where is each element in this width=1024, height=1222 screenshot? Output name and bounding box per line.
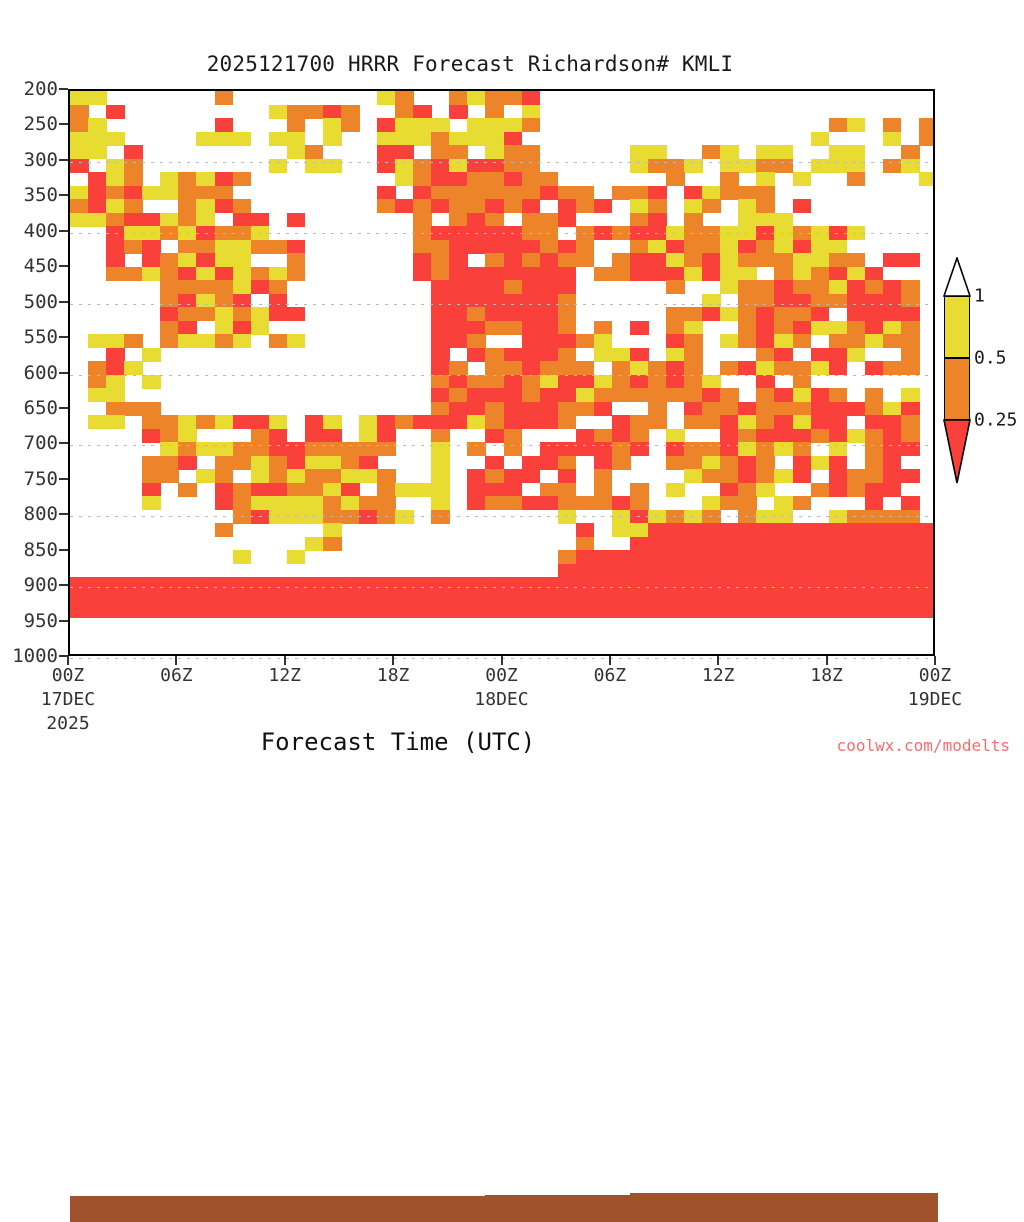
- heatmap-cell: [449, 402, 468, 416]
- heatmap-cell: [540, 577, 559, 591]
- heatmap-cell: [847, 226, 866, 240]
- heatmap-cell: [287, 145, 306, 159]
- heatmap-cell: [431, 510, 450, 524]
- heatmap-cell: [901, 145, 920, 159]
- heatmap-cell: [287, 510, 306, 524]
- terrain-block: [251, 1196, 270, 1222]
- heatmap-cell: [467, 159, 486, 173]
- heatmap-cell: [594, 429, 613, 443]
- heatmap-cell: [558, 483, 577, 497]
- heatmap-cell: [847, 591, 866, 605]
- heatmap-cell: [720, 267, 739, 281]
- heatmap-cell: [395, 415, 414, 429]
- heatmap-cell: [196, 186, 215, 200]
- heatmap-cell: [233, 577, 252, 591]
- heatmap-cell: [829, 442, 848, 456]
- heatmap-cell: [648, 145, 667, 159]
- heatmap-cell: [124, 199, 143, 213]
- surface-line: [522, 1188, 541, 1195]
- heatmap-cell: [702, 415, 721, 429]
- surface-line: [305, 1189, 324, 1196]
- heatmap-cell: [847, 550, 866, 564]
- heatmap-cell: [233, 172, 252, 186]
- heatmap-cell: [793, 402, 812, 416]
- heatmap-cell: [106, 159, 125, 173]
- y-tick-mark: [59, 407, 68, 409]
- heatmap-cell: [702, 604, 721, 618]
- heatmap-cell: [540, 402, 559, 416]
- terrain-block: [70, 1196, 89, 1222]
- heatmap-cell: [774, 469, 793, 483]
- heatmap-cell: [233, 321, 252, 335]
- heatmap-cell: [847, 469, 866, 483]
- heatmap-cell: [847, 510, 866, 524]
- heatmap-cell: [233, 226, 252, 240]
- heatmap-cell: [485, 388, 504, 402]
- heatmap-cell: [160, 415, 179, 429]
- heatmap-cell: [124, 172, 143, 186]
- heatmap-cell: [630, 564, 649, 578]
- heatmap-cell: [70, 186, 89, 200]
- heatmap-cell: [106, 240, 125, 254]
- heatmap-cell: [160, 226, 179, 240]
- heatmap-cell: [467, 604, 486, 618]
- heatmap-cell: [847, 145, 866, 159]
- y-tick-label: 200: [24, 78, 58, 100]
- y-tick-mark: [59, 549, 68, 551]
- heatmap-cell: [467, 172, 486, 186]
- heatmap-cell: [883, 483, 902, 497]
- heatmap-cell: [522, 604, 541, 618]
- heatmap-cell: [196, 591, 215, 605]
- heatmap-cell: [738, 240, 757, 254]
- heatmap-cell: [919, 172, 933, 186]
- heatmap-cell: [811, 591, 830, 605]
- heatmap-cell: [684, 213, 703, 227]
- heatmap-cell: [377, 118, 396, 132]
- heatmap-cell: [793, 172, 812, 186]
- heatmap-cell: [720, 523, 739, 537]
- heatmap-cell: [449, 388, 468, 402]
- heatmap-cell: [702, 402, 721, 416]
- heatmap-cell: [630, 361, 649, 375]
- heatmap-cell: [323, 456, 342, 470]
- heatmap-cell: [413, 226, 432, 240]
- heatmap-cell: [504, 577, 523, 591]
- heatmap-cell: [124, 334, 143, 348]
- heatmap-cell: [467, 118, 486, 132]
- heatmap-cell: [178, 226, 197, 240]
- heatmap-cell: [774, 604, 793, 618]
- heatmap-cell: [684, 159, 703, 173]
- surface-line: [847, 1186, 866, 1193]
- heatmap-cell: [756, 294, 775, 308]
- surface-line: [883, 1186, 902, 1193]
- heatmap-cell: [756, 240, 775, 254]
- heatmap-cell: [666, 456, 685, 470]
- heatmap-cell: [341, 442, 360, 456]
- heatmap-cell: [178, 577, 197, 591]
- heatmap-cell: [684, 240, 703, 254]
- heatmap-cell: [829, 591, 848, 605]
- heatmap-cell: [576, 523, 595, 537]
- heatmap-cell: [648, 159, 667, 173]
- heatmap-cell: [648, 523, 667, 537]
- heatmap-cell: [106, 591, 125, 605]
- heatmap-cell: [88, 604, 107, 618]
- heatmap-cell: [847, 267, 866, 281]
- heatmap-cell: [467, 132, 486, 146]
- heatmap-cell: [738, 307, 757, 321]
- heatmap-cell: [774, 240, 793, 254]
- heatmap-cell: [540, 456, 559, 470]
- heatmap-cell: [413, 172, 432, 186]
- heatmap-cell: [558, 496, 577, 510]
- y-tick-mark: [59, 194, 68, 196]
- heatmap-cell: [178, 415, 197, 429]
- heatmap-cell: [720, 280, 739, 294]
- heatmap-cell: [323, 159, 342, 173]
- heatmap-cell: [738, 267, 757, 281]
- heatmap-cell: [901, 591, 920, 605]
- heatmap-cell: [865, 591, 884, 605]
- x-tick-label: 06Z: [594, 664, 627, 688]
- surface-line: [178, 1189, 197, 1196]
- heatmap-cell: [612, 456, 631, 470]
- heatmap-cell: [305, 591, 324, 605]
- heatmap-cell: [829, 523, 848, 537]
- heatmap-cell: [738, 591, 757, 605]
- heatmap-cell: [124, 159, 143, 173]
- heatmap-cell: [196, 334, 215, 348]
- heatmap-cell: [196, 267, 215, 281]
- heatmap-cell: [106, 105, 125, 119]
- heatmap-cell: [485, 496, 504, 510]
- heatmap-cell: [377, 604, 396, 618]
- heatmap-cell: [684, 442, 703, 456]
- heatmap-cell: [829, 577, 848, 591]
- heatmap-cell: [540, 415, 559, 429]
- y-axis: 2002503003504004505005506006507007508008…: [0, 89, 68, 656]
- heatmap-cell: [847, 348, 866, 362]
- heatmap-cell: [377, 91, 396, 105]
- heatmap-cell: [196, 280, 215, 294]
- heatmap-cell: [774, 564, 793, 578]
- heatmap-cell: [305, 105, 324, 119]
- heatmap-cell: [684, 267, 703, 281]
- terrain-block: [883, 1193, 902, 1222]
- colorbar: 10.50.25: [944, 296, 970, 484]
- heatmap-cell: [883, 132, 902, 146]
- heatmap-cell: [756, 577, 775, 591]
- heatmap-cell: [504, 321, 523, 335]
- heatmap-cell: [341, 604, 360, 618]
- terrain-block: [196, 1196, 215, 1222]
- heatmap-cell: [251, 510, 270, 524]
- heatmap-cell: [702, 307, 721, 321]
- heatmap-cell: [847, 604, 866, 618]
- heatmap-cell: [70, 91, 89, 105]
- x-tick-label: 06Z: [160, 664, 193, 688]
- heatmap-cell: [558, 550, 577, 564]
- heatmap-cell: [106, 577, 125, 591]
- heatmap-cell: [558, 240, 577, 254]
- heatmap-cell: [847, 307, 866, 321]
- heatmap-cell: [287, 442, 306, 456]
- heatmap-cell: [485, 213, 504, 227]
- heatmap-cell: [576, 564, 595, 578]
- heatmap-cell: [395, 118, 414, 132]
- heatmap-cell: [576, 388, 595, 402]
- heatmap-cell: [756, 226, 775, 240]
- heatmap-cell: [233, 334, 252, 348]
- heatmap-cell: [558, 361, 577, 375]
- surface-line: [377, 1189, 396, 1196]
- heatmap-cell: [504, 118, 523, 132]
- surface-line: [829, 1186, 848, 1193]
- heatmap-cell: [233, 307, 252, 321]
- heatmap-cell: [738, 604, 757, 618]
- heatmap-cell: [269, 510, 288, 524]
- heatmap-cell: [648, 199, 667, 213]
- y-tick-label: 550: [24, 326, 58, 348]
- heatmap-cell: [919, 591, 933, 605]
- heatmap-cell: [323, 537, 342, 551]
- heatmap-cell: [377, 496, 396, 510]
- heatmap-cell: [467, 267, 486, 281]
- surface-line: [738, 1186, 757, 1193]
- heatmap-cell: [449, 591, 468, 605]
- heatmap-cell: [756, 402, 775, 416]
- heatmap-cell: [467, 402, 486, 416]
- terrain-block: [233, 1196, 252, 1222]
- heatmap-cell: [323, 429, 342, 443]
- heatmap-cell: [395, 159, 414, 173]
- heatmap-cell: [449, 267, 468, 281]
- heatmap-cell: [106, 267, 125, 281]
- heatmap-cell: [269, 456, 288, 470]
- heatmap-cell: [648, 577, 667, 591]
- heatmap-cell: [485, 294, 504, 308]
- heatmap-cell: [883, 564, 902, 578]
- heatmap-cell: [142, 456, 161, 470]
- heatmap-cell: [901, 564, 920, 578]
- heatmap-cell: [738, 294, 757, 308]
- heatmap-cell: [774, 388, 793, 402]
- heatmap-cell: [684, 253, 703, 267]
- surface-line: [594, 1188, 613, 1195]
- heatmap-cell: [413, 577, 432, 591]
- heatmap-cell: [413, 213, 432, 227]
- heatmap-cell: [648, 550, 667, 564]
- heatmap-cell: [522, 348, 541, 362]
- heatmap-cell: [305, 159, 324, 173]
- heatmap-cell: [558, 280, 577, 294]
- heatmap-cell: [269, 294, 288, 308]
- heatmap-cell: [178, 456, 197, 470]
- heatmap-cell: [431, 456, 450, 470]
- heatmap-cell: [883, 577, 902, 591]
- heatmap-cell: [883, 321, 902, 335]
- heatmap-cell: [756, 429, 775, 443]
- heatmap-cell: [88, 334, 107, 348]
- heatmap-cell: [793, 550, 812, 564]
- heatmap-cell: [215, 523, 234, 537]
- colorbar-label: 1: [974, 286, 985, 307]
- heatmap-cell: [287, 334, 306, 348]
- heatmap-cell: [847, 483, 866, 497]
- heatmap-cell: [485, 361, 504, 375]
- terrain-block: [756, 1193, 775, 1222]
- heatmap-cell: [865, 537, 884, 551]
- heatmap-cell: [702, 510, 721, 524]
- heatmap-cell: [829, 361, 848, 375]
- heatmap-cell: [829, 415, 848, 429]
- heatmap-cell: [431, 159, 450, 173]
- heatmap-cell: [883, 402, 902, 416]
- heatmap-cell: [287, 240, 306, 254]
- heatmap-cell: [684, 510, 703, 524]
- terrain-block: [106, 1196, 125, 1222]
- heatmap-cell: [359, 577, 378, 591]
- heatmap-cell: [504, 253, 523, 267]
- heatmap-cell: [793, 591, 812, 605]
- heatmap-cell: [431, 226, 450, 240]
- heatmap-cell: [70, 577, 89, 591]
- heatmap-cell: [341, 118, 360, 132]
- heatmap-cell: [522, 469, 541, 483]
- heatmap-cell: [377, 132, 396, 146]
- heatmap-cell: [142, 469, 161, 483]
- heatmap-cell: [612, 523, 631, 537]
- heatmap-cell: [865, 564, 884, 578]
- heatmap-cell: [901, 361, 920, 375]
- heatmap-cell: [540, 213, 559, 227]
- heatmap-cell: [178, 280, 197, 294]
- surface-line: [774, 1186, 793, 1193]
- heatmap-cell: [630, 199, 649, 213]
- heatmap-cell: [106, 375, 125, 389]
- heatmap-cell: [702, 469, 721, 483]
- heatmap-cell: [774, 267, 793, 281]
- heatmap-cell: [504, 429, 523, 443]
- heatmap-cell: [666, 483, 685, 497]
- y-tick-label: 950: [24, 610, 58, 632]
- heatmap-cell: [865, 321, 884, 335]
- heatmap-cell: [793, 253, 812, 267]
- heatmap-cell: [702, 591, 721, 605]
- heatmap-cell: [774, 294, 793, 308]
- heatmap-cell: [160, 442, 179, 456]
- heatmap-cell: [901, 496, 920, 510]
- heatmap-cell: [666, 159, 685, 173]
- heatmap-cell: [467, 307, 486, 321]
- heatmap-cell: [702, 253, 721, 267]
- heatmap-cell: [738, 226, 757, 240]
- heatmap-cell: [883, 307, 902, 321]
- heatmap-cell: [684, 226, 703, 240]
- heatmap-cell: [702, 186, 721, 200]
- heatmap-cell: [522, 186, 541, 200]
- heatmap-cell: [196, 307, 215, 321]
- heatmap-cell: [630, 604, 649, 618]
- heatmap-cell: [720, 577, 739, 591]
- heatmap-cell: [106, 132, 125, 146]
- heatmap-cell: [522, 388, 541, 402]
- heatmap-cell: [395, 604, 414, 618]
- heatmap-cell: [215, 469, 234, 483]
- heatmap-cell: [196, 240, 215, 254]
- heatmap-cell: [612, 442, 631, 456]
- heatmap-cell: [793, 577, 812, 591]
- heatmap-cell: [811, 564, 830, 578]
- heatmap-cell: [467, 469, 486, 483]
- heatmap-cell: [865, 280, 884, 294]
- heatmap-cell: [883, 361, 902, 375]
- heatmap-cell: [738, 280, 757, 294]
- heatmap-cell: [774, 537, 793, 551]
- heatmap-cell: [847, 577, 866, 591]
- heatmap-cell: [612, 267, 631, 281]
- heatmap-cell: [431, 186, 450, 200]
- heatmap-cell: [630, 550, 649, 564]
- heatmap-cell: [919, 577, 933, 591]
- heatmap-cell: [720, 429, 739, 443]
- heatmap-cell: [793, 442, 812, 456]
- terrain-block: [467, 1196, 486, 1222]
- heatmap-cell: [431, 577, 450, 591]
- heatmap-cell: [323, 496, 342, 510]
- heatmap-cell: [648, 604, 667, 618]
- heatmap-cell: [919, 118, 933, 132]
- plot-area: [68, 89, 935, 656]
- heatmap-cell: [738, 213, 757, 227]
- heatmap-cell: [720, 186, 739, 200]
- x-tick-line: 12Z: [702, 664, 735, 688]
- heatmap-cell: [233, 442, 252, 456]
- heatmap-cell: [215, 456, 234, 470]
- heatmap-cell: [449, 577, 468, 591]
- heatmap-cell: [630, 240, 649, 254]
- heatmap-cell: [558, 442, 577, 456]
- heatmap-cell: [522, 577, 541, 591]
- heatmap-cell: [540, 375, 559, 389]
- x-tick-label: 00Z17DEC2025: [41, 664, 95, 736]
- heatmap-cell: [522, 280, 541, 294]
- heatmap-cell: [305, 415, 324, 429]
- heatmap-cell: [901, 307, 920, 321]
- heatmap-cell: [106, 388, 125, 402]
- heatmap-cell: [847, 564, 866, 578]
- heatmap-cell: [233, 132, 252, 146]
- heatmap-cell: [811, 321, 830, 335]
- heatmap-cell: [431, 118, 450, 132]
- heatmap-cell: [88, 415, 107, 429]
- heatmap-cell: [612, 415, 631, 429]
- terrain-block: [540, 1195, 559, 1222]
- heatmap-cell: [269, 496, 288, 510]
- heatmap-cell: [142, 415, 161, 429]
- heatmap-cell: [901, 469, 920, 483]
- heatmap-cell: [269, 429, 288, 443]
- heatmap-cell: [684, 456, 703, 470]
- terrain-block: [178, 1196, 197, 1222]
- x-tick-line: 00Z: [908, 664, 962, 688]
- heatmap-cell: [431, 334, 450, 348]
- heatmap-cell: [811, 550, 830, 564]
- heatmap-cell: [305, 510, 324, 524]
- heatmap-cell: [106, 415, 125, 429]
